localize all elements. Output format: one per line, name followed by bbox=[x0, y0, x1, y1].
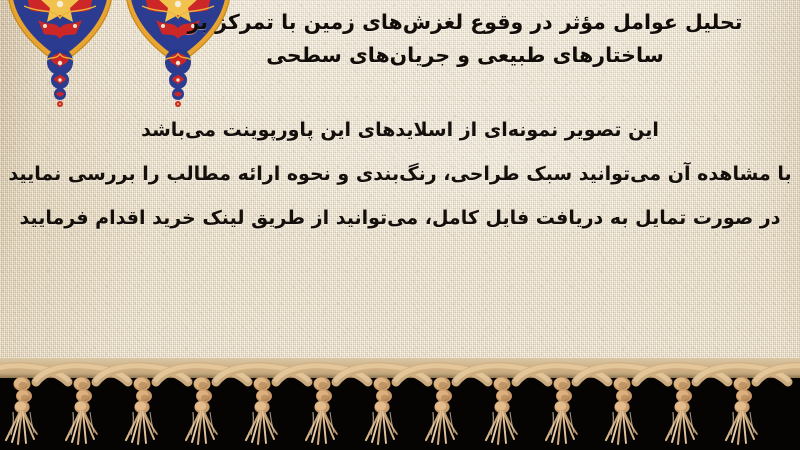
carpet-fringe bbox=[0, 358, 800, 450]
carpet-background bbox=[0, 0, 800, 382]
carpet-fringe-edge bbox=[0, 358, 800, 378]
weave-texture bbox=[0, 0, 800, 382]
slide-canvas: تحلیل عوامل مؤثر در وقوع لغزش‌های زمین ب… bbox=[0, 0, 800, 450]
fiber-noise-texture bbox=[0, 0, 800, 382]
